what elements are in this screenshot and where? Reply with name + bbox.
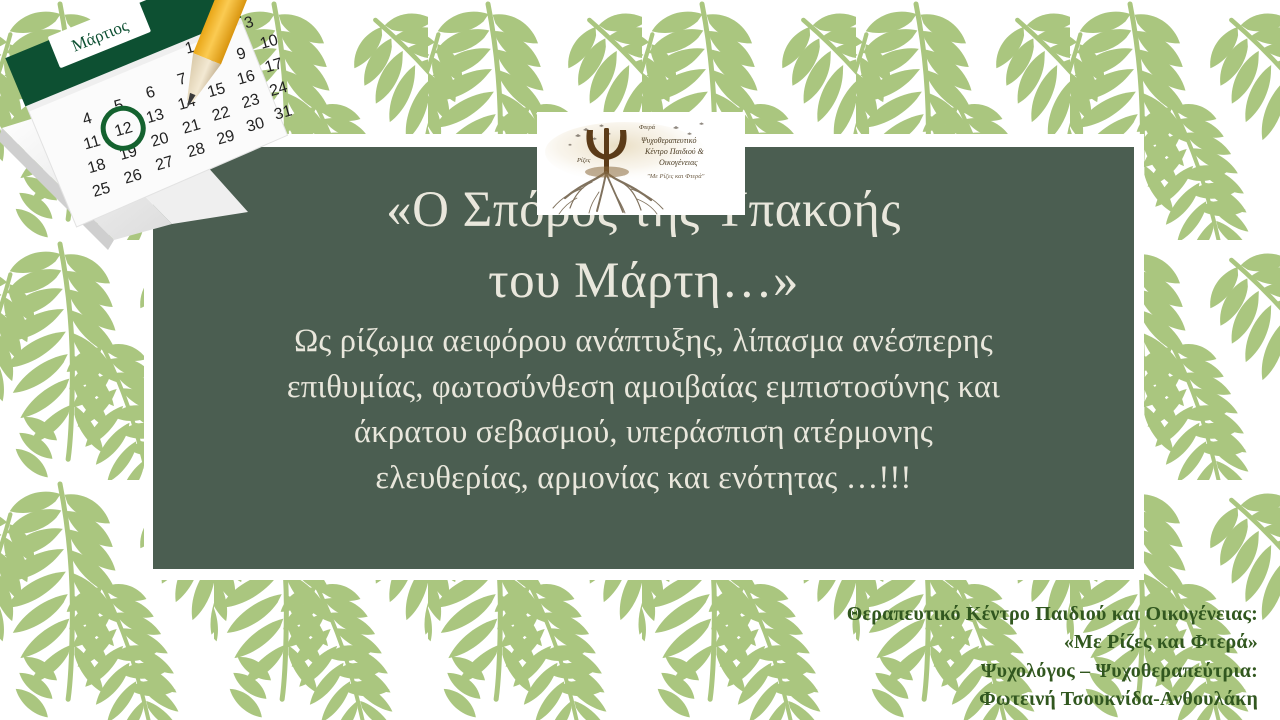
body-line-1: Ως ρίζωμα αειφόρου ανάπτυξης, λίπασμα αν…: [175, 319, 1112, 365]
logo-tagline: "Με Ρίζες και Φτερά": [647, 173, 705, 180]
logo-line-2: Κέντρο Παιδιού &: [644, 147, 705, 156]
credit-line-organisation: Θεραπευτικό Κέντρο Παιδιού και Οικογένει…: [638, 600, 1258, 628]
svg-text:24: 24: [268, 79, 290, 100]
footer-credit-block: Θεραπευτικό Κέντρο Παιδιού και Οικογένει…: [638, 600, 1258, 714]
calendar-clipart: Μάρτιος 4 11 18 25 5 12 19 26 6 13 20 27: [0, 0, 316, 260]
svg-text:17: 17: [263, 55, 285, 76]
body-line-2: επιθυμίας, φωτοσύνθεση αμοιβαίας εμπιστο…: [175, 365, 1112, 411]
logo-wings-label: Φτερά: [639, 124, 656, 131]
slide-title-line-2: του Μάρτη…»: [175, 254, 1112, 309]
credit-line-role: Ψυχολόγος – Ψυχοθεραπεύτρια:: [638, 657, 1258, 685]
slide-body-text: Ως ρίζωμα αειφόρου ανάπτυξης, λίπασμα αν…: [175, 319, 1112, 501]
organisation-logo: Φτερά Ρίζες Ψυχοθεραπευτικό Κέντρο Παιδι…: [537, 112, 745, 215]
credit-line-organisation-name: «Με Ρίζες και Φτερά»: [638, 628, 1258, 656]
logo-line-1: Ψυχοθεραπευτικό: [641, 136, 697, 145]
svg-text:10: 10: [258, 32, 280, 53]
svg-text:31: 31: [272, 102, 294, 123]
logo-line-3: Οικογένειας: [659, 158, 698, 167]
credit-line-person-name: Φωτεινή Τσουκνίδα-Ανθουλάκη: [638, 685, 1258, 713]
logo-roots-label: Ρίζες: [576, 157, 591, 164]
body-line-3: άκρατου σεβασμού, υπεράσπιση ατέρμονης: [175, 410, 1112, 456]
body-line-4: ελευθερίας, αρμονίας και ενότητας …!!!: [175, 456, 1112, 502]
presentation-slide: «Ο Σπόρος της Υπακοής του Μάρτη…» Ως ρίζ…: [0, 0, 1280, 720]
